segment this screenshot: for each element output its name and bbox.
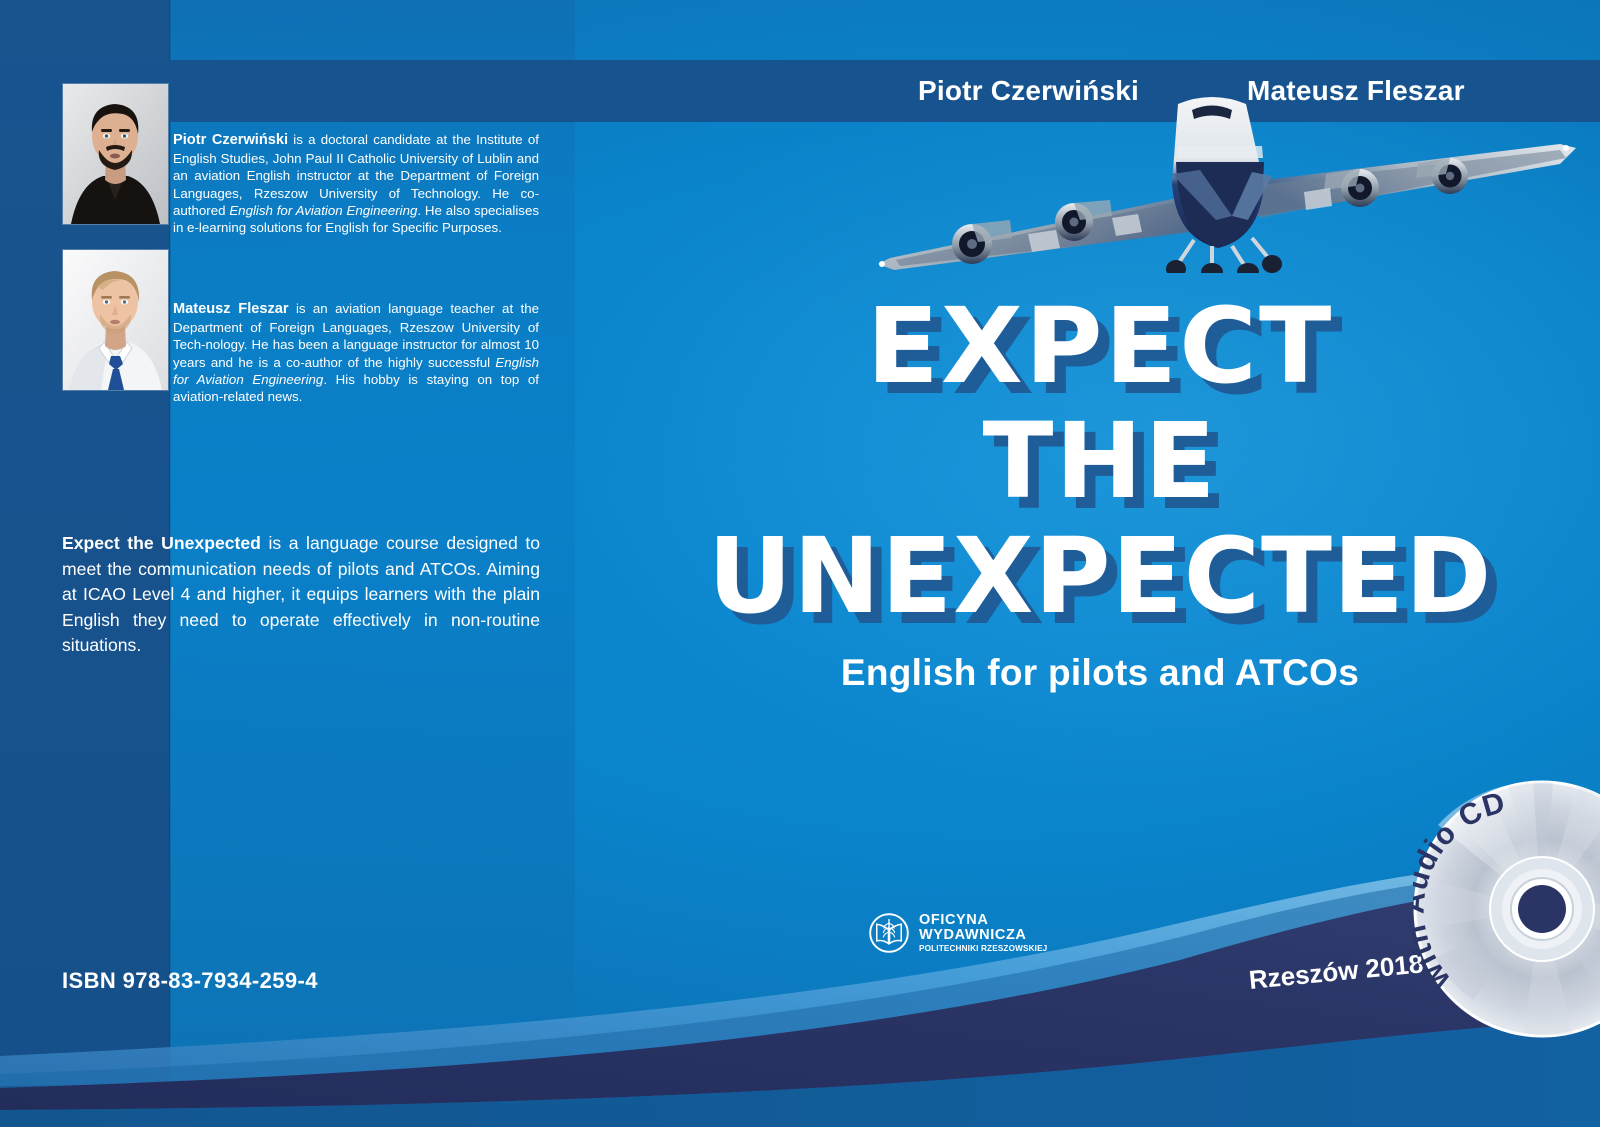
audio-cd-badge: with Audio CD: [1413, 780, 1600, 1038]
book-blurb: Expect the Unexpected is a language cour…: [62, 531, 540, 659]
author-photo-1: [63, 84, 168, 224]
title-line-3: UNEXPECTED: [600, 526, 1600, 627]
author-name-1: Piotr Czerwiński: [918, 75, 1139, 107]
publisher-logo: OFICYNA WYDAWNICZA POLITECHNIKI RZESZOWS…: [868, 912, 1047, 954]
wave-graphics: [0, 860, 1600, 1127]
authors-band: Piotr Czerwiński Mateusz Fleszar: [0, 60, 1600, 122]
author-bio-2-name: Mateusz Fleszar: [173, 301, 289, 317]
title-line-2: THE: [600, 411, 1600, 512]
author-name-2: Mateusz Fleszar: [1247, 75, 1465, 107]
author-bio-1: Piotr Czerwiński is a doctoral candidate…: [173, 131, 539, 236]
author-bio-2: Mateusz Fleszar is an aviation language …: [173, 300, 539, 405]
publisher-line-3: POLITECHNIKI RZESZOWSKIEJ: [919, 945, 1047, 954]
publisher-line-1: OFICYNA: [919, 913, 1047, 928]
book-subtitle: English for pilots and ATCOs: [600, 652, 1600, 694]
publisher-name: OFICYNA WYDAWNICZA POLITECHNIKI RZESZOWS…: [919, 913, 1047, 954]
blurb-title: Expect the Unexpected: [62, 533, 261, 553]
author-photo-2: [63, 250, 168, 390]
title-line-1: EXPECT: [590, 296, 1600, 397]
author-bio-1-name: Piotr Czerwiński: [173, 132, 288, 148]
publisher-emblem-icon: [868, 912, 910, 954]
book-cover: Piotr Czerwiński Mateusz Fleszar: [0, 0, 1600, 1127]
publisher-line-2: WYDAWNICZA: [919, 928, 1047, 943]
author-bio-1-title: English for Aviation Engineering: [229, 203, 417, 218]
book-title: EXPECT THE UNEXPECTED: [600, 296, 1600, 627]
